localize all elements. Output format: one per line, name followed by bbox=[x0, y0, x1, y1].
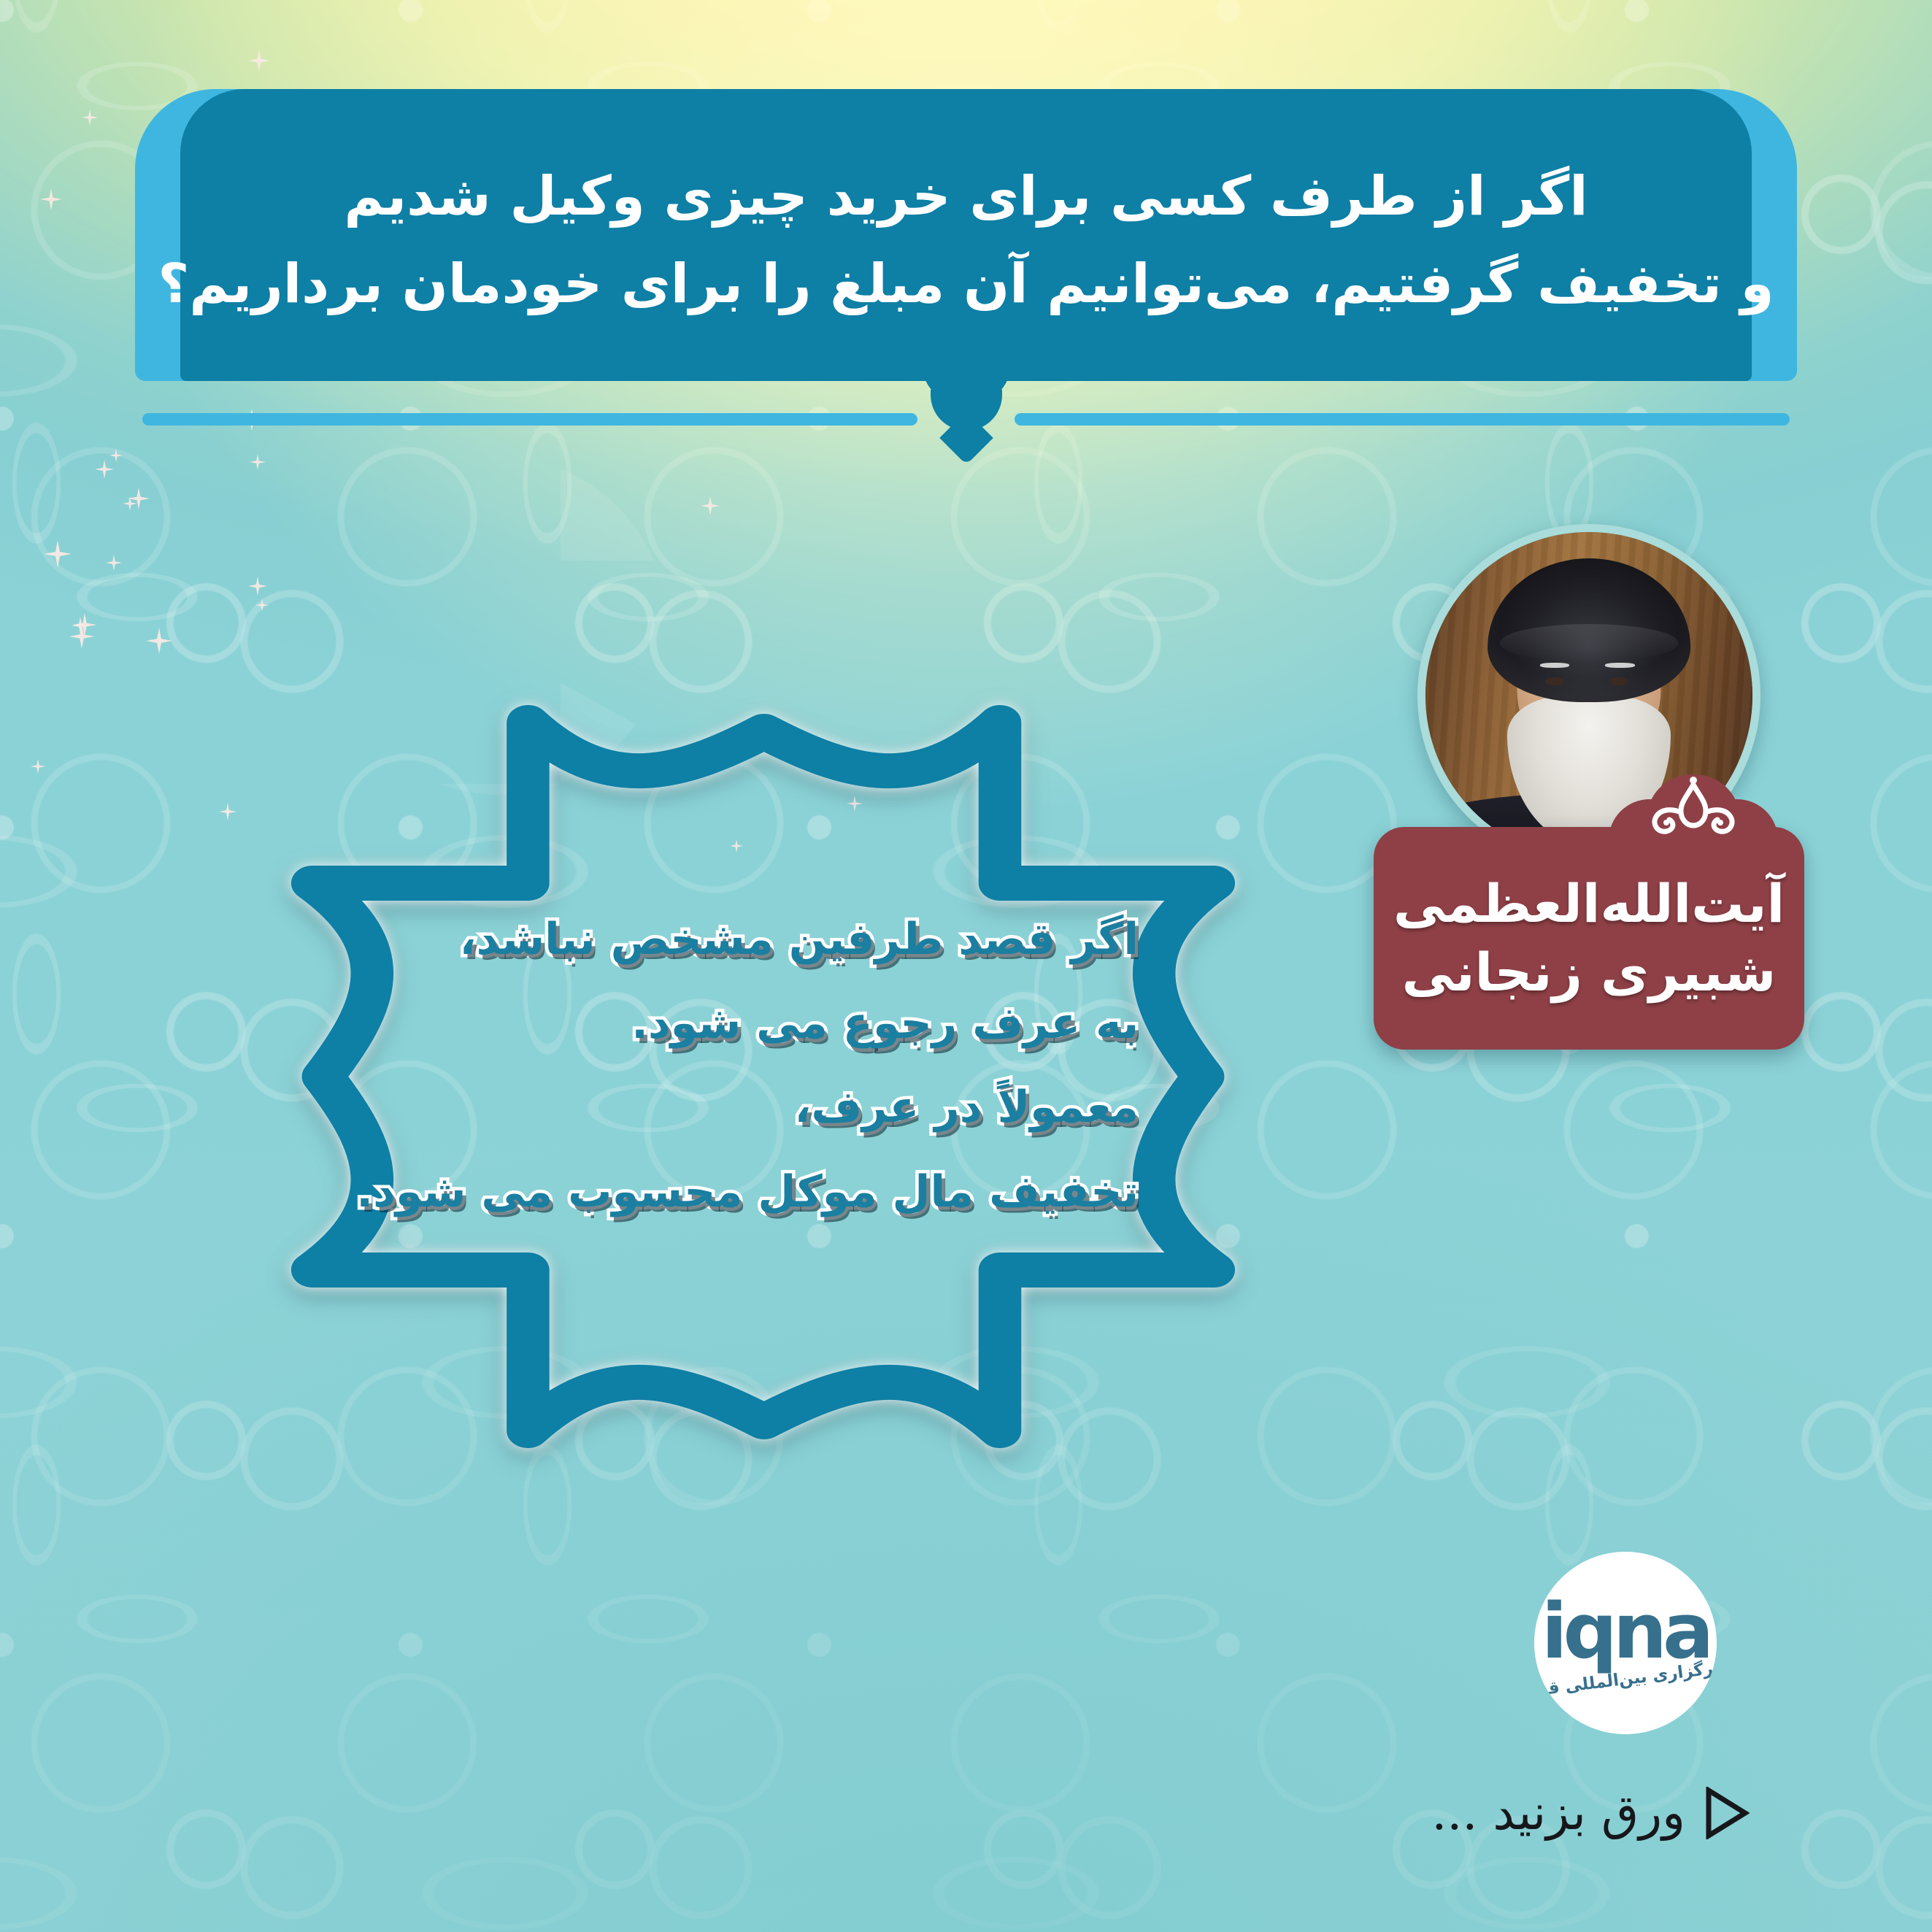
divider-rule-right bbox=[1015, 413, 1790, 426]
header-inner-panel: اگر از طرف کسی برای خرید چیزی وکیل شدیم … bbox=[180, 89, 1752, 381]
divider-rule-left bbox=[142, 413, 917, 426]
portrait-eye-right bbox=[1609, 677, 1628, 685]
swipe-hint[interactable]: ورق بزنید ... bbox=[1431, 1787, 1750, 1839]
cleric-name-badge: آیت‌الله‌العظمی شبیری زنجانی bbox=[1374, 827, 1804, 1050]
question-header-panel: اگر از طرف کسی برای خرید چیزی وکیل شدیم … bbox=[135, 89, 1797, 381]
question-line-2: و تخفیف گرفتیم، می‌توانیم آن مبلغ را برا… bbox=[158, 241, 1774, 328]
badge-title-line-2: شبیری زنجانی bbox=[1402, 941, 1777, 1005]
question-line-1: اگر از طرف کسی برای خرید چیزی وکیل شدیم bbox=[344, 153, 1587, 241]
badge-crown-ornament bbox=[1609, 764, 1778, 840]
answer-line-3: معمولاً در عرف، bbox=[241, 1066, 1139, 1150]
answer-line-2: به عرف رجوع می شود. bbox=[241, 982, 1139, 1066]
answer-text-block: اگر قصد طرفین مشخص نباشد، به عرف رجوع می… bbox=[241, 898, 1139, 1234]
arabesque-flourish-icon bbox=[1624, 774, 1763, 837]
answer-line-1: اگر قصد طرفین مشخص نباشد، bbox=[241, 898, 1139, 982]
iqna-logo-wordmark: iqna bbox=[1542, 1597, 1709, 1667]
play-triangle-outline-icon[interactable] bbox=[1704, 1787, 1750, 1839]
swipe-hint-label: ورق بزنید ... bbox=[1431, 1789, 1685, 1837]
answer-line-4: تخفیف مال موکل محسوب می شود. bbox=[241, 1150, 1139, 1234]
iqna-logo: iqna خبرگزاری بین‌المللی قرآن bbox=[1534, 1552, 1717, 1734]
pendant-ornament-icon bbox=[922, 363, 1011, 460]
portrait-eyebrow-left bbox=[1540, 663, 1569, 668]
badge-title-line-1: آیت‌الله‌العظمی bbox=[1393, 872, 1785, 936]
fatwa-infographic-card: اگر از طرف کسی برای خرید چیزی وکیل شدیم … bbox=[0, 0, 1932, 1932]
portrait-eyebrow-right bbox=[1605, 663, 1634, 668]
